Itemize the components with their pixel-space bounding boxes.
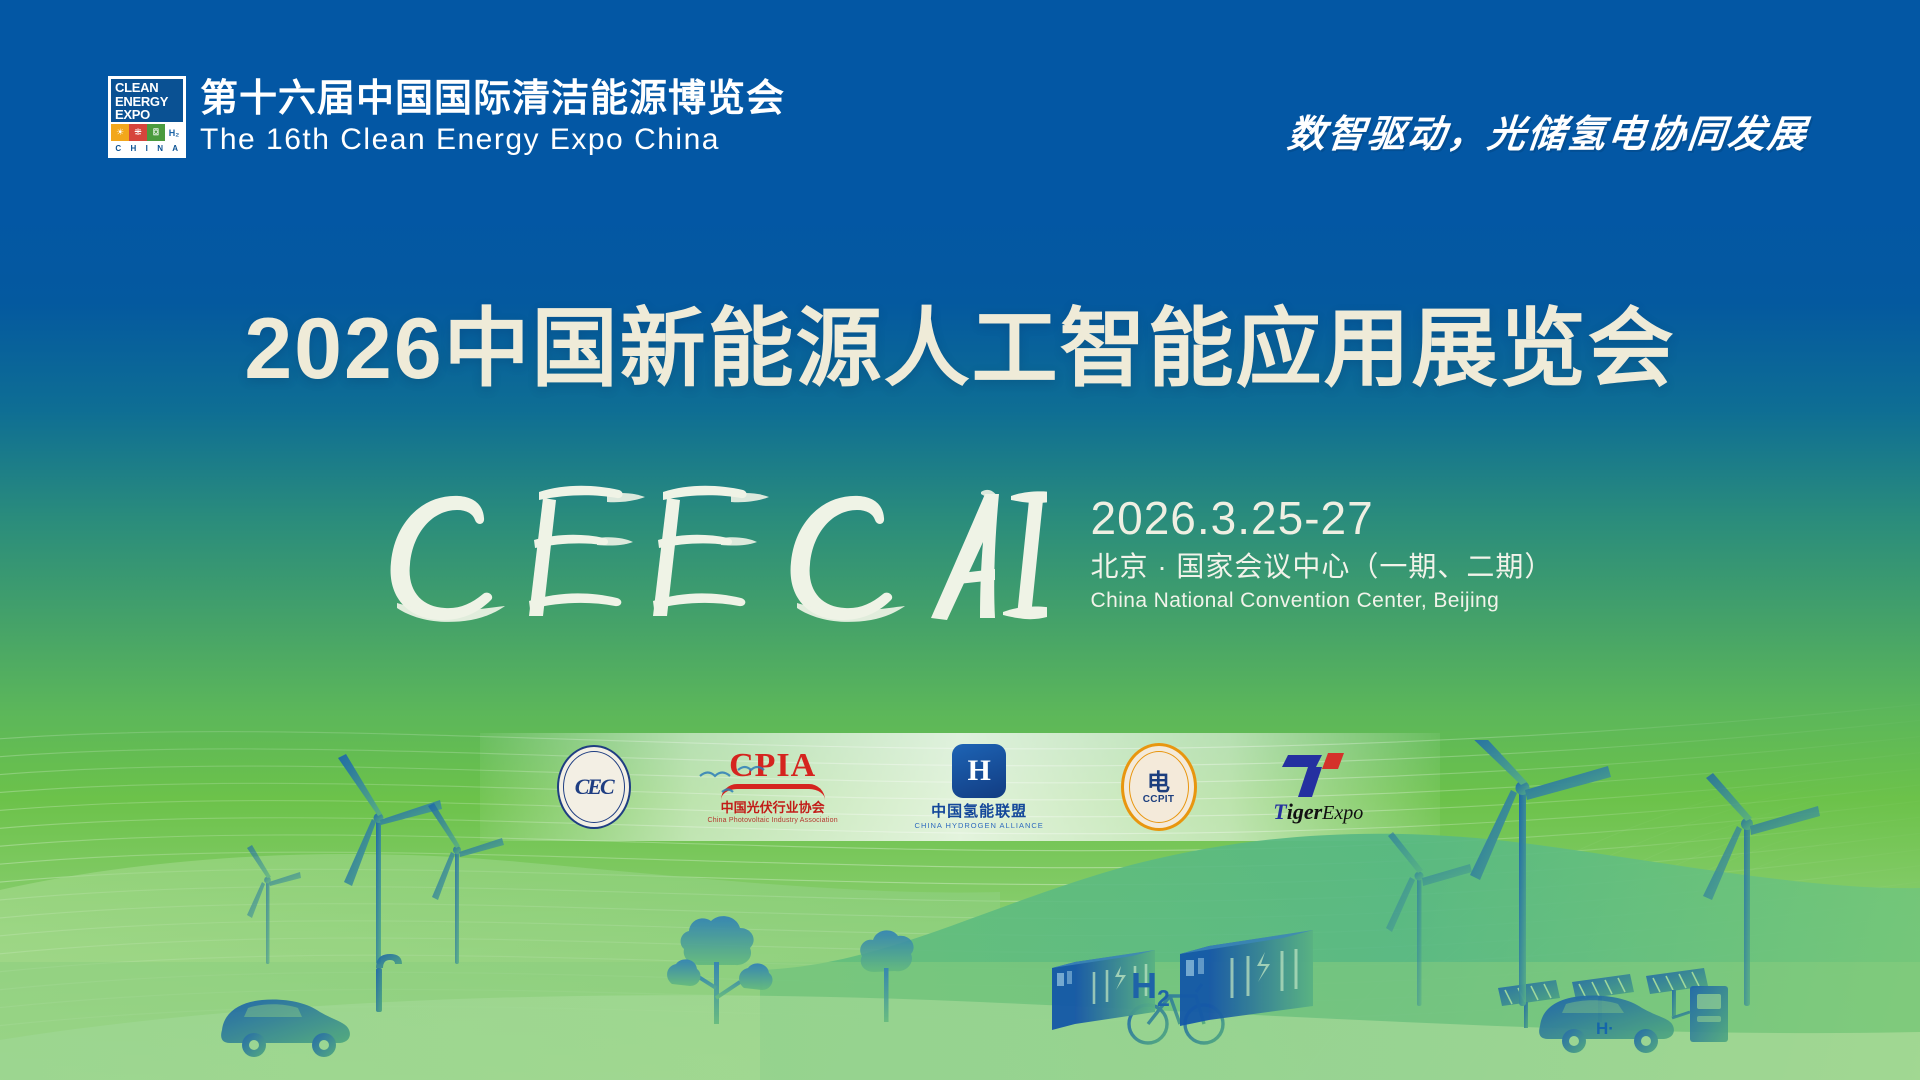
country-letter: H: [131, 144, 137, 154]
banner-header: CLEAN ENERGY EXPO ☀ ⁜ ⌼ H₂ C H I N A: [0, 0, 1920, 210]
ceec-ai-wordmark: CEEC AI: [367, 470, 1047, 630]
hydrogen-scene-label: H2: [1131, 965, 1170, 1012]
logo-country-strip: C H I N A: [111, 141, 183, 155]
biomass-icon: ⌼: [147, 124, 165, 141]
date-venue-block: 2026.3.25-27 北京 · 国家会议中心（一期、二期） China Na…: [1091, 485, 1554, 615]
event-date: 2026.3.25-27: [1091, 491, 1554, 545]
event-tagline: 数智驱动，光储氢电协同发展: [1285, 103, 1811, 158]
renewable-energy-scene: H·: [0, 740, 1920, 1080]
brand-name-en: The 16th Clean Energy Expo China: [200, 122, 785, 158]
venue-name-cn: 北京 · 国家会议中心（一期、二期）: [1091, 547, 1554, 587]
logo-wordmark: CLEAN ENERGY EXPO: [111, 79, 183, 122]
country-letter: A: [172, 144, 178, 154]
birds-icon: [700, 767, 764, 792]
wind-turbine-icon: ⁜: [129, 124, 147, 141]
brand-name-cn: 第十六届中国国际清洁能源博览会: [200, 77, 785, 121]
country-letter: C: [115, 144, 121, 154]
hydrogen-vehicle-badge: H·: [1596, 1019, 1614, 1038]
country-letter: I: [146, 144, 149, 154]
logo-line-2: ENERGY: [115, 95, 180, 109]
cec-monogram: CEC: [575, 774, 613, 800]
wordmark-and-date-block: CEEC AI: [0, 470, 1920, 630]
logo-line-1: CLEAN: [115, 81, 180, 95]
brand-text: 第十六届中国国际清洁能源博览会 The 16th Clean Energy Ex…: [200, 76, 785, 158]
hydrogen-subscript: 2: [1157, 985, 1170, 1011]
logo-line-3: EXPO: [115, 108, 180, 122]
ccpit-acronym: CCPIT: [1143, 794, 1175, 805]
hydrogen-icon: H₂: [165, 124, 183, 141]
ccpit-glyph: 电: [1147, 770, 1170, 794]
promo-banner: CLEAN ENERGY EXPO ☀ ⁜ ⌼ H₂ C H I N A: [0, 0, 1920, 1080]
clean-energy-expo-china-logo: CLEAN ENERGY EXPO ☀ ⁜ ⌼ H₂ C H I N A: [108, 76, 186, 158]
country-letter: N: [157, 144, 163, 154]
hydrogen-symbol: H: [1131, 965, 1157, 1006]
brand-lockup: CLEAN ENERGY EXPO ☀ ⁜ ⌼ H₂ C H I N A: [108, 76, 785, 158]
logo-icon-strip: ☀ ⁜ ⌼ H₂: [111, 122, 183, 141]
venue-name-en: China National Convention Center, Beijin…: [1091, 587, 1554, 615]
page-title: 2026中国新能源人工智能应用展览会: [0, 278, 1920, 403]
sun-icon: ☀: [111, 124, 129, 141]
